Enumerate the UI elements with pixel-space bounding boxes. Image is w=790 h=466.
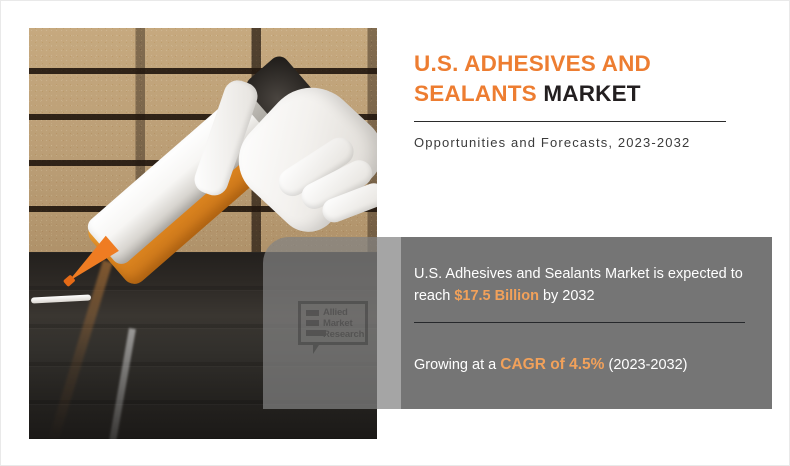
page-title-highlight-2: SEALANTS (414, 81, 537, 106)
logo-word-3: Research (323, 330, 364, 340)
market-value-suffix: by 2032 (539, 288, 595, 304)
infographic-canvas: U.S. ADHESIVES AND SEALANTS MARKET Oppor… (0, 0, 790, 466)
page-title-line-2: SEALANTS MARKET (414, 79, 732, 109)
speech-bubble-icon: Allied Market Research (298, 301, 368, 345)
page-title-highlight-1: U.S. ADHESIVES AND (414, 51, 651, 76)
logo-word-1: Allied (323, 308, 348, 318)
logo-bar (306, 310, 319, 316)
cagr-prefix: Growing at a (414, 357, 500, 373)
panel-divider (414, 322, 745, 323)
allied-market-research-logo: Allied Market Research (298, 301, 376, 359)
page-title: U.S. ADHESIVES AND SEALANTS MARKET (414, 49, 732, 109)
page-title-plain: MARKET (543, 81, 640, 106)
logo-word-2: Market (323, 319, 352, 329)
cagr-figure: CAGR of 4.5% (500, 356, 604, 373)
page-subtitle: Opportunities and Forecasts, 2023-2032 (414, 135, 690, 150)
market-value-statement: U.S. Adhesives and Sealants Market is ex… (414, 263, 750, 307)
cagr-suffix: (2023-2032) (604, 357, 687, 373)
logo-bar (306, 320, 319, 326)
cagr-statement: Growing at a CAGR of 4.5% (2023-2032) (414, 354, 750, 376)
title-divider (414, 121, 726, 122)
page-title-line-1: U.S. ADHESIVES AND (414, 49, 732, 79)
market-value-figure: $17.5 Billion (454, 288, 539, 304)
